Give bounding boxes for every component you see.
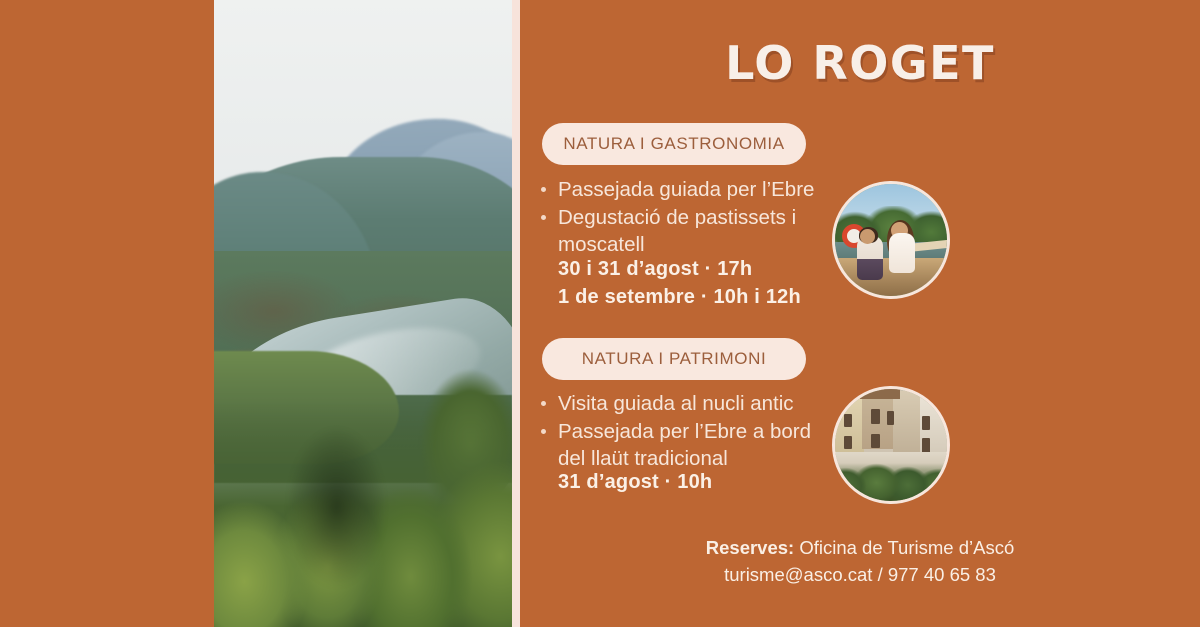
list-item: Visita guiada al nucli antic — [536, 390, 836, 417]
photo-divider-strip — [512, 0, 520, 627]
dates-gastronomia: 30 i 31 d’agost · 17h 1 de setembre · 10… — [558, 255, 878, 311]
page-title: LO ROGET — [520, 36, 1200, 90]
landscape-illustration — [214, 0, 512, 627]
footer-contact: Reserves: Oficina de Turisme d’Ascó turi… — [520, 534, 1200, 589]
old-town-illustration — [835, 389, 947, 501]
circle1-person-left-head — [860, 229, 875, 244]
circle2-window — [922, 438, 930, 453]
badge-natura-i-patrimoni: NATURA I PATRIMONI — [542, 338, 806, 380]
foreground-shadow — [286, 426, 387, 589]
circle2-window — [871, 434, 880, 449]
list-item: Degustació de pastissets i moscatell — [536, 204, 836, 258]
list-item: Passejada guiada per l’Ebre — [536, 176, 836, 203]
date-line: 30 i 31 d’agost · 17h — [558, 255, 878, 283]
hero-photo — [214, 0, 512, 627]
footer-contact-line: turisme@asco.cat / 977 40 65 83 — [520, 561, 1200, 589]
poster: LO ROGET NATURA I GASTRONOMIA Passejada … — [0, 0, 1200, 627]
footer-reserves-line: Reserves: Oficina de Turisme d’Ascó — [520, 534, 1200, 561]
circle2-greenery — [832, 463, 950, 501]
list-patrimoni: Visita guiada al nucli antic Passejada p… — [536, 390, 836, 473]
circle2-house-3 — [893, 391, 922, 454]
circle2-window — [844, 414, 852, 427]
circle2-window — [887, 411, 895, 424]
boat-trip-photo — [832, 181, 950, 299]
badge-natura-i-gastronomia: NATURA I GASTRONOMIA — [542, 123, 806, 165]
old-town-photo — [832, 386, 950, 504]
list-gastronomia: Passejada guiada per l’Ebre Degustació d… — [536, 176, 836, 259]
list-item: Passejada per l’Ebre a bord del llaüt tr… — [536, 418, 836, 472]
circle1-person-right-body — [889, 233, 915, 273]
content-panel: LO ROGET NATURA I GASTRONOMIA Passejada … — [520, 0, 1200, 627]
boat-trip-illustration — [835, 184, 947, 296]
footer-label: Reserves: — [706, 537, 794, 558]
circle2-window — [844, 436, 852, 449]
date-line: 1 de setembre · 10h i 12h — [558, 283, 878, 311]
circle2-window — [922, 416, 930, 431]
footer-office: Oficina de Turisme d’Ascó — [799, 537, 1014, 558]
circle2-roof — [860, 389, 900, 399]
dates-patrimoni: 31 d’agost · 10h — [558, 468, 878, 496]
date-line: 31 d’agost · 10h — [558, 468, 878, 496]
circle2-window — [871, 409, 880, 424]
